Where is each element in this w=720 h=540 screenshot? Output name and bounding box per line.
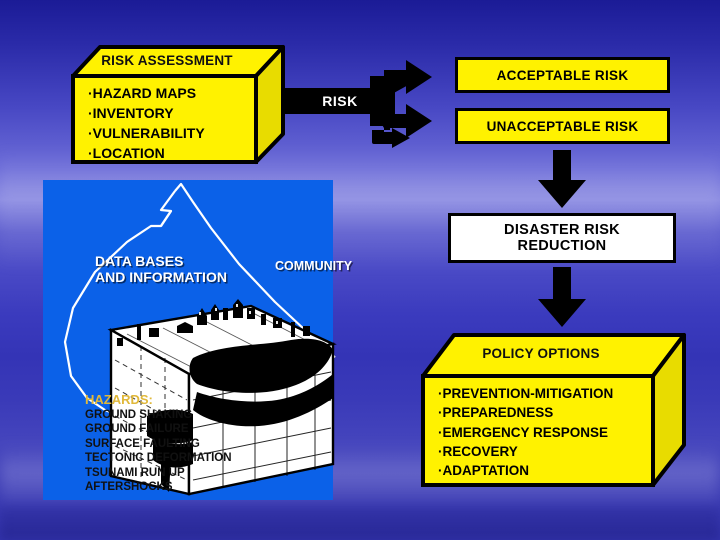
- list-item: ·PREVENTION-MITIGATION: [438, 384, 613, 403]
- list-item: TECTONIC DEFORMATION: [85, 451, 232, 465]
- drr-line-2: REDUCTION: [518, 238, 607, 254]
- list-item: ·INVENTORY: [88, 104, 205, 124]
- risk-assessment-items: ·HAZARD MAPS ·INVENTORY ·VULNERABILITY ·…: [88, 84, 205, 164]
- policy-options-box[interactable]: POLICY OPTIONS ·PREVENTION-MITIGATION ·P…: [418, 330, 690, 490]
- background-shadow-bottom: [0, 505, 720, 540]
- list-item: ·PREPAREDNESS: [438, 403, 613, 422]
- list-item: AFTERSHOCKS: [85, 480, 232, 494]
- community-data-panel: DATA BASES AND INFORMATION COMMUNITY HAZ…: [43, 180, 333, 500]
- risk-connector-label: RISK: [322, 93, 357, 109]
- list-item: SURFACE FAULTING: [85, 437, 232, 451]
- list-item: ·RECOVERY: [438, 442, 613, 461]
- arrow-down-to-policy-icon: [534, 267, 590, 329]
- hazards-title: HAZARDS:: [85, 392, 153, 407]
- policy-options-title: POLICY OPTIONS: [428, 346, 654, 361]
- list-item: TSUNAMI RUN UP: [85, 466, 232, 480]
- disaster-risk-reduction-box[interactable]: DISASTER RISK REDUCTION: [448, 213, 676, 263]
- list-item: ·LOCATION: [88, 144, 205, 164]
- unacceptable-risk-box[interactable]: UNACCEPTABLE RISK: [455, 108, 670, 144]
- unacceptable-risk-label: UNACCEPTABLE RISK: [487, 119, 639, 134]
- hazards-list: GROUND SHAKING GROUND FAILURE SURFACE FA…: [85, 408, 232, 495]
- list-item: ·VULNERABILITY: [88, 124, 205, 144]
- list-item: ·HAZARD MAPS: [88, 84, 205, 104]
- policy-options-items: ·PREVENTION-MITIGATION ·PREPAREDNESS ·EM…: [438, 384, 613, 480]
- acceptable-risk-box[interactable]: ACCEPTABLE RISK: [455, 57, 670, 93]
- risk-assessment-title: RISK ASSESSMENT: [74, 53, 260, 68]
- risk-assessment-box[interactable]: RISK ASSESSMENT ·HAZARD MAPS ·INVENTORY …: [68, 42, 288, 167]
- list-item: GROUND FAILURE: [85, 422, 232, 436]
- drr-line-1: DISASTER RISK: [504, 222, 620, 238]
- arrow-down-to-drr-icon: [534, 150, 590, 210]
- list-item: ·ADAPTATION: [438, 461, 613, 480]
- slide-canvas: RISK ASSESSMENT ·HAZARD MAPS ·INVENTORY …: [0, 0, 720, 540]
- community-label: COMMUNITY: [275, 259, 352, 273]
- list-item: GROUND SHAKING: [85, 408, 232, 422]
- acceptable-risk-label: ACCEPTABLE RISK: [497, 68, 629, 83]
- list-item: ·EMERGENCY RESPONSE: [438, 423, 613, 442]
- data-bases-label: DATA BASES AND INFORMATION: [95, 254, 227, 285]
- risk-fork-arrow-icon: [370, 52, 460, 152]
